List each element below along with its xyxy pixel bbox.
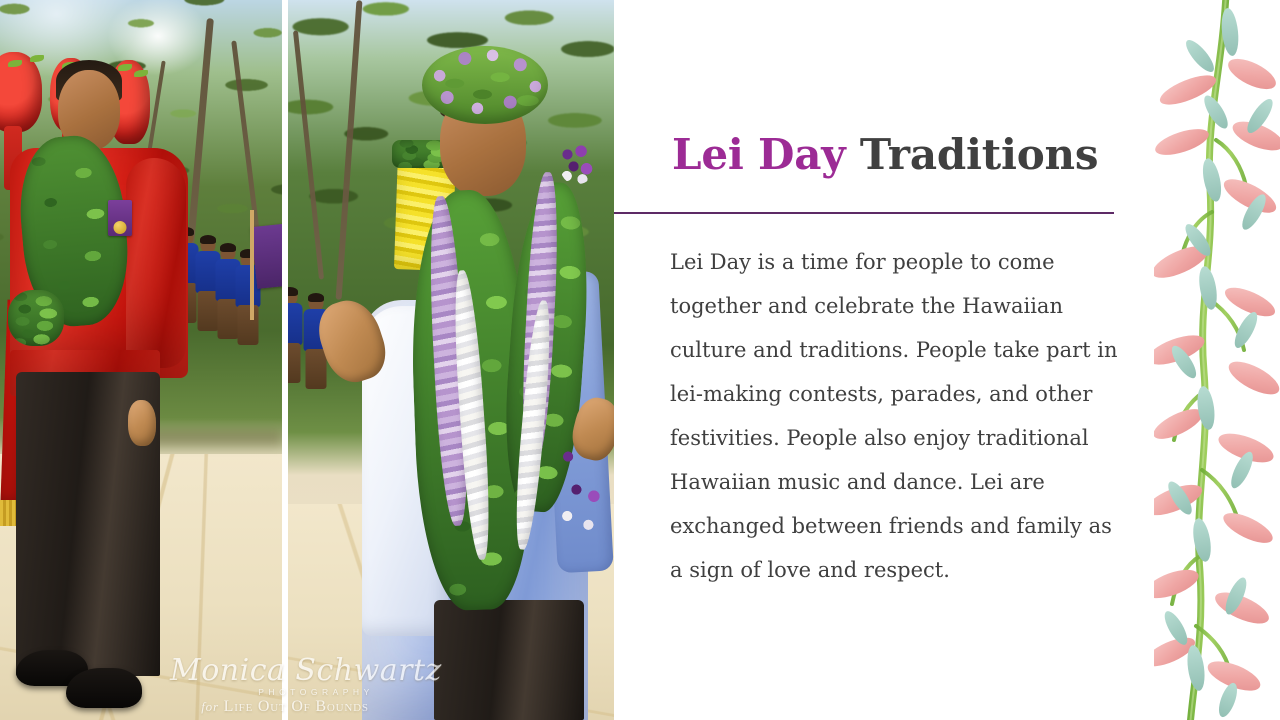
purple-flower-cluster — [560, 144, 594, 184]
photo-left — [0, 0, 282, 720]
title-plain: Traditions — [860, 130, 1098, 179]
red-sleeve — [126, 158, 186, 368]
title-divider — [614, 212, 1114, 214]
child-hair — [220, 243, 236, 252]
slide-root: Monica Schwartz PHOTOGRAPHY for Life Out… — [0, 0, 1280, 720]
haku-head-lei — [422, 46, 548, 124]
page-title: Lei Day Traditions — [672, 128, 1098, 182]
maile-lei-bundle — [8, 290, 64, 346]
floral-vine-svg — [1154, 0, 1280, 720]
floral-vine-decoration — [1154, 0, 1280, 720]
name-badge — [108, 200, 132, 236]
person-hair — [308, 293, 324, 302]
child-legs — [238, 305, 259, 345]
child-hair — [200, 235, 216, 244]
content-panel: Lei Day Traditions Lei Day is a time for… — [614, 0, 1154, 720]
title-accent: Lei Day — [672, 130, 845, 179]
person-hair — [288, 287, 298, 296]
parade-banner — [251, 223, 282, 289]
person-legs — [306, 349, 327, 389]
banner-pole — [250, 210, 254, 320]
body-paragraph: Lei Day is a time for people to come tog… — [670, 240, 1122, 592]
photo-block: Monica Schwartz PHOTOGRAPHY for Life Out… — [0, 0, 614, 720]
hand — [128, 400, 156, 446]
black-trousers — [434, 600, 584, 720]
photo-right — [288, 0, 614, 720]
person-blue-shirt — [288, 303, 303, 345]
dress-shoe — [66, 668, 142, 708]
person-legs — [288, 343, 301, 383]
